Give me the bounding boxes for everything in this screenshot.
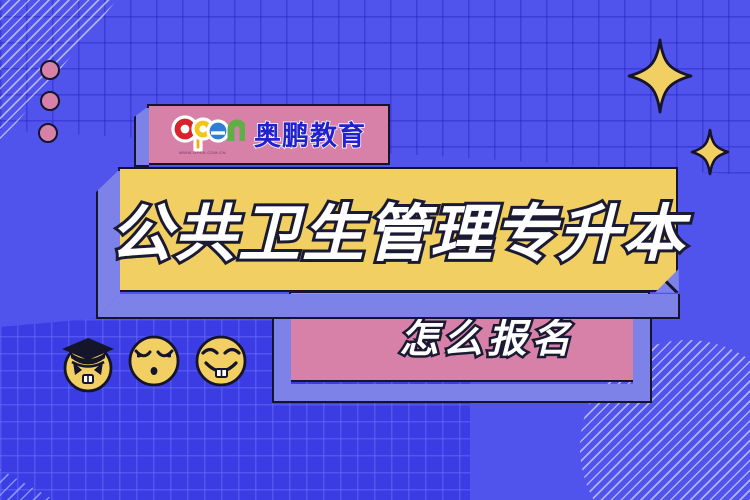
sparkle-small-icon	[690, 128, 730, 176]
brand-lockup: WWW.OPEN.COM.CN 奥鹏教育	[171, 114, 366, 154]
pink-dot-2	[40, 91, 60, 111]
poster-title: 公共卫生管理专升本	[110, 183, 686, 273]
title-banner-base-face	[96, 291, 680, 319]
title-banner: 公共卫生管理专升本	[118, 167, 678, 292]
sparkle-large-icon	[627, 38, 693, 114]
brand-name: 奥鹏教育	[254, 114, 366, 153]
open-logo-icon: WWW.OPEN.COM.CN	[171, 114, 245, 154]
poster-canvas: WWW.OPEN.COM.CN 奥鹏教育 怎么报名 公共卫生管理专升本	[0, 0, 750, 500]
emoji-happy-grin-icon	[192, 332, 250, 390]
pink-dot-3	[38, 123, 58, 143]
logo-tagline: WWW.OPEN.COM.CN	[179, 150, 226, 155]
emoji-row	[58, 332, 250, 390]
logo-banner: WWW.OPEN.COM.CN 奥鹏教育	[147, 104, 390, 165]
emoji-squint-oh-icon	[125, 332, 183, 390]
emoji-graduate-squint-icon	[58, 332, 116, 390]
pink-dot-1	[40, 60, 60, 80]
